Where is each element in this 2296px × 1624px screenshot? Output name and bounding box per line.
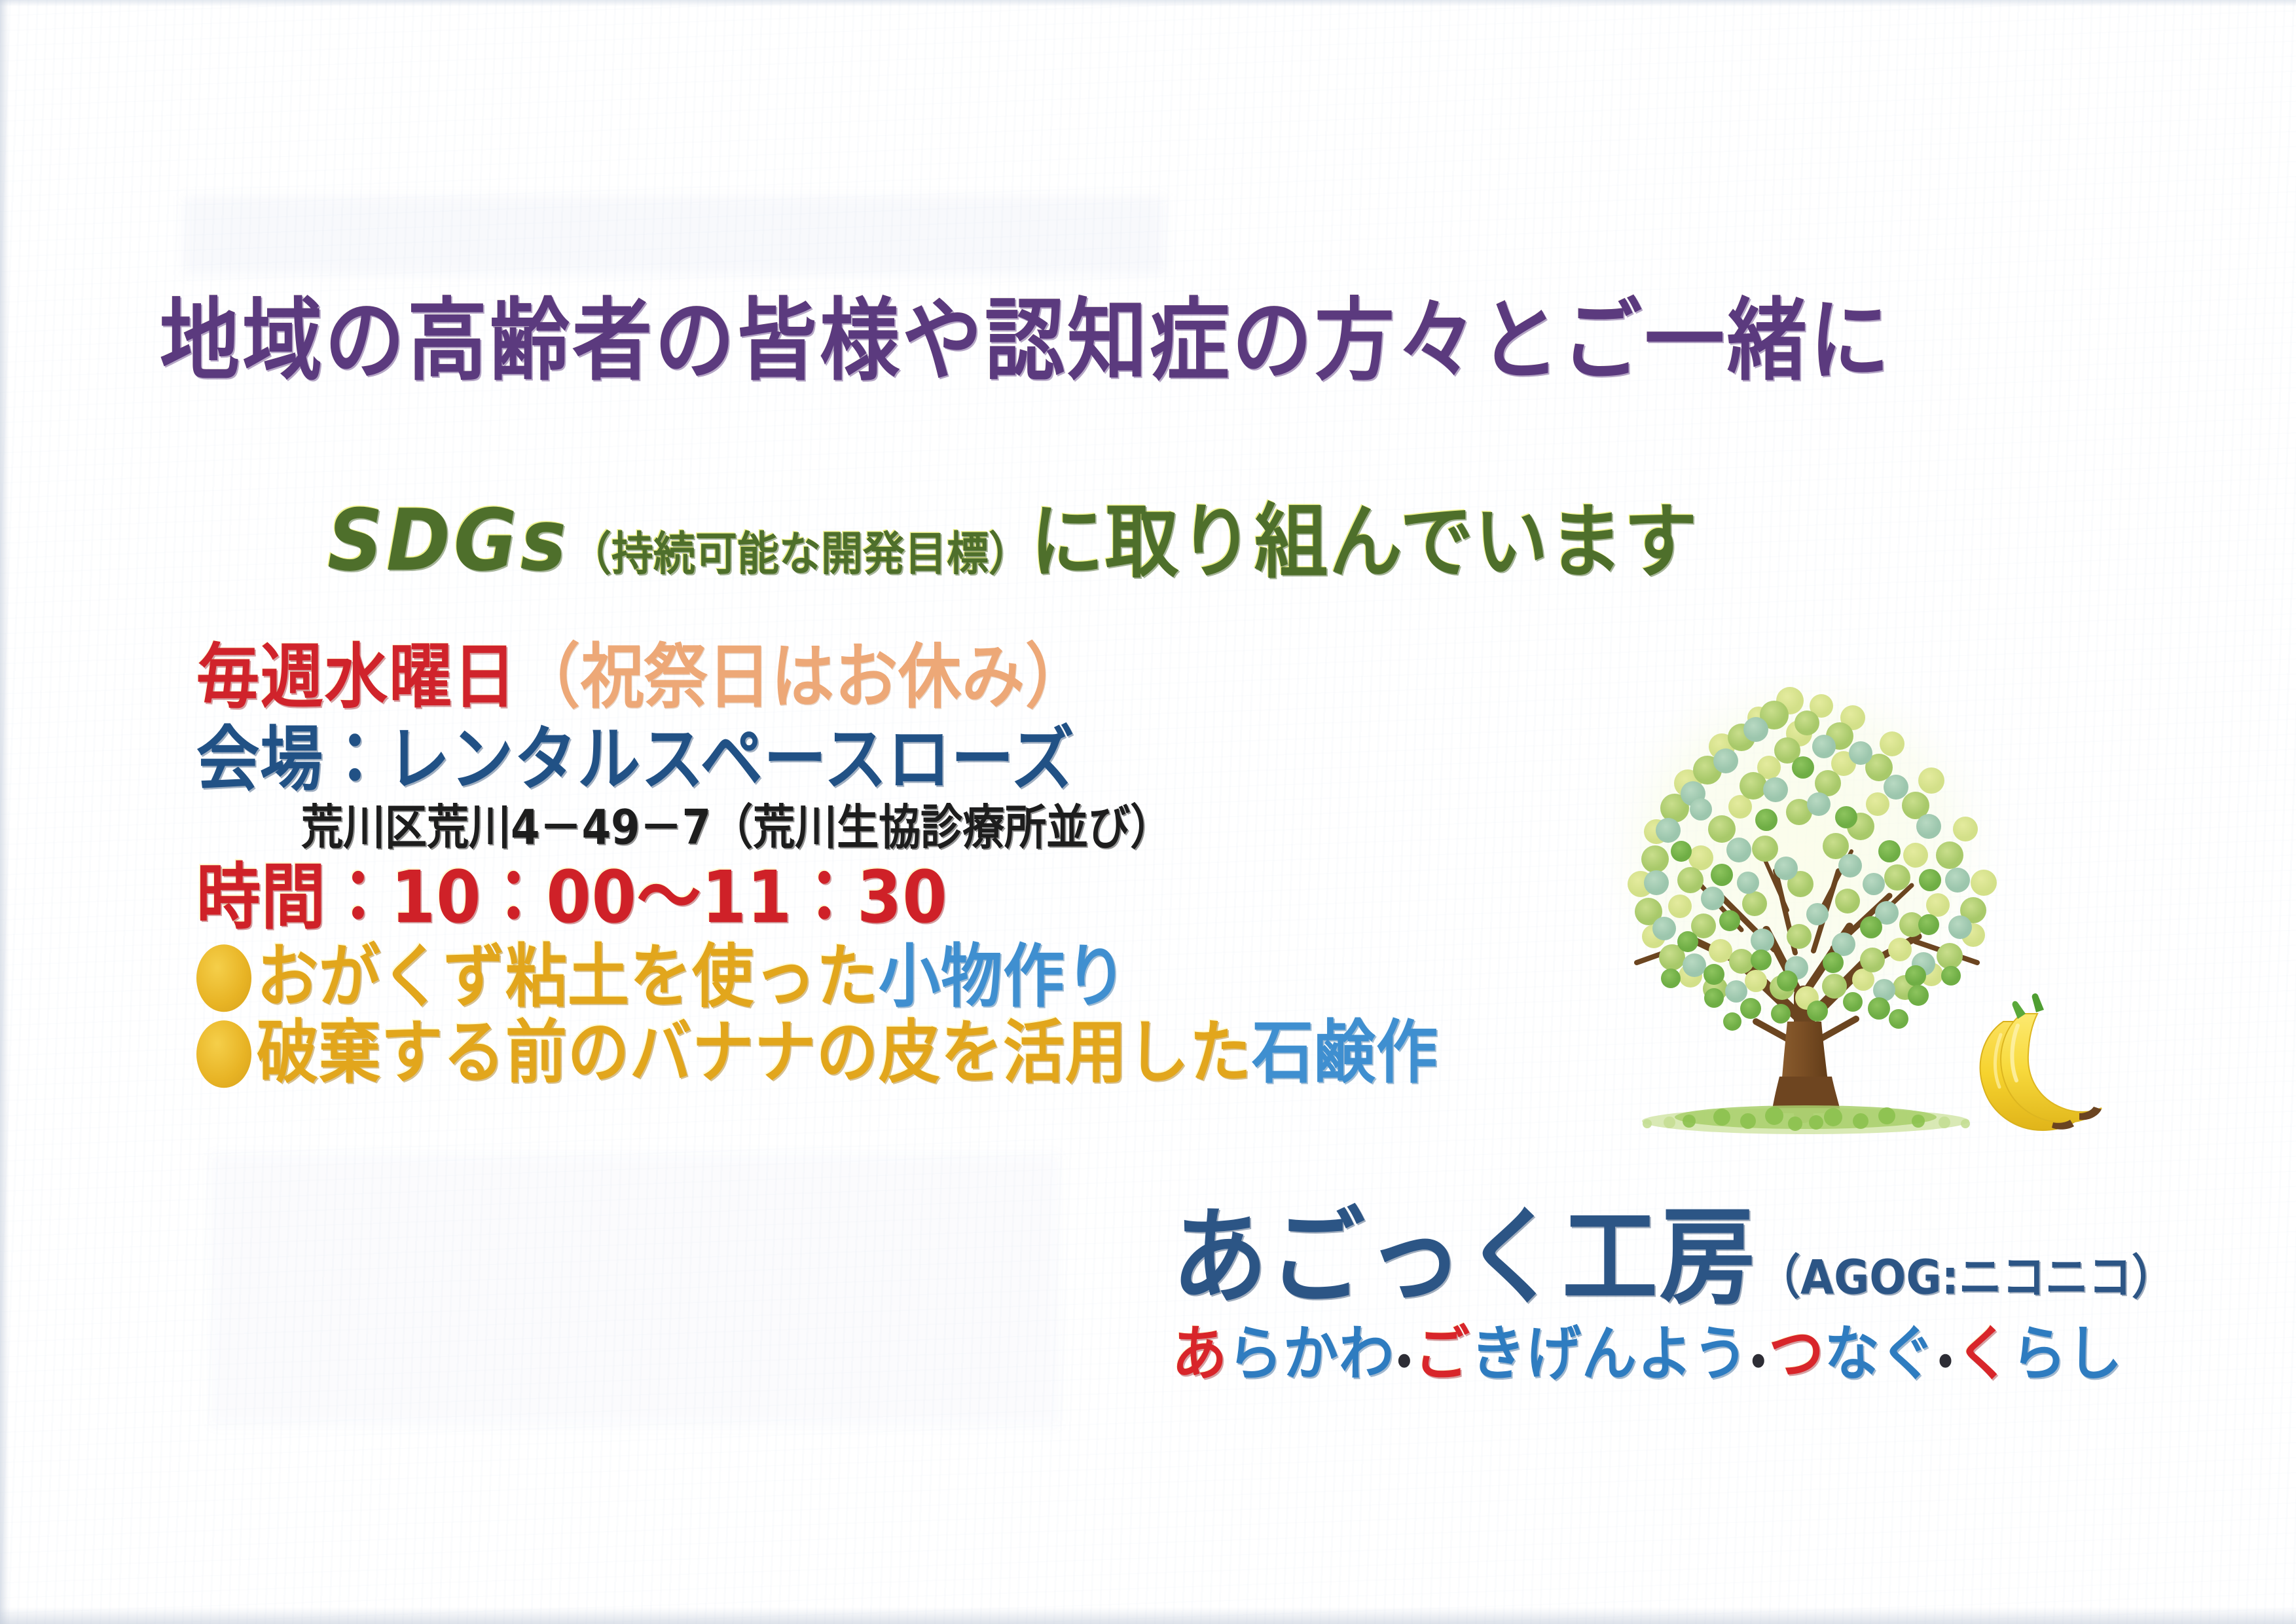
tagline-separator: ・ <box>1749 1333 1769 1386</box>
tagline-word-rest: なぐ <box>1825 1319 1936 1388</box>
tagline-word-rest: きげんよう <box>1470 1319 1749 1388</box>
scan-ghost-band <box>210 1153 1061 1428</box>
tagline-word-rest: らし <box>2011 1319 2123 1388</box>
venue-address: 荒川区荒川4－49－7（荒川生協診療所並び） <box>196 804 1506 852</box>
paper-edge-top <box>0 0 2296 7</box>
paper-edge-bottom <box>0 1607 2296 1624</box>
headline-sdgs: SDGs（持続可能な開発目標）に取り組んでいます <box>327 498 1698 583</box>
headline-primary: 地域の高齢者の皆様や認知症の方々とご一緒に <box>160 296 1892 386</box>
brand-romaji: （AGOG:ニコニコ） <box>1757 1249 2175 1305</box>
sdgs-abbreviation: SDGs <box>327 490 570 590</box>
event-time: 時間：10：00〜11：30 <box>196 862 1506 934</box>
activity-gold-text: 破棄する前のバナナの皮を活用した <box>257 1013 1252 1093</box>
activity-gold-text: おがくず粘土を使った <box>257 937 879 1017</box>
activity-blue-text: 小物作り <box>879 937 1127 1017</box>
tagline-word-rest: らかわ <box>1228 1319 1394 1388</box>
schedule-weekday-line: 毎週水曜日（祝祭日はお休み） <box>196 642 1506 712</box>
tree-illustration <box>1525 655 2115 1179</box>
activity-item: 破棄する前のバナナの皮を活用した石鹸作 <box>196 1019 1506 1088</box>
sdgs-tail: に取り組んでいます <box>1030 496 1698 589</box>
scan-ghost-band <box>183 196 1165 275</box>
tagline-word-initial: つ <box>1769 1319 1825 1388</box>
brand-name-line: あごっく工房（AGOG:ニコニコ） <box>1172 1205 2175 1310</box>
tagline-word-initial: あ <box>1172 1319 1228 1388</box>
activity-blue-text: 石鹸作 <box>1252 1013 1438 1093</box>
tagline-separator: ・ <box>1394 1333 1415 1386</box>
paper-edge-left <box>0 0 9 1624</box>
bullet-dot-icon <box>196 944 251 1012</box>
brand-tagline: あらかわ・ごきげんよう・つなぐ・くらし <box>1172 1324 2175 1384</box>
venue-name: 会場：レンタルスペースローズ <box>196 724 1506 795</box>
schedule-weekday: 毎週水曜日 <box>196 636 517 718</box>
brand-name: あごっく工房 <box>1172 1196 1757 1319</box>
event-info-block: 毎週水曜日（祝祭日はお休み） 会場：レンタルスペースローズ 荒川区荒川4－49－… <box>196 642 1506 1095</box>
tagline-word-initial: く <box>1956 1319 2011 1388</box>
brand-block: あごっく工房（AGOG:ニコニコ） あらかわ・ごきげんよう・つなぐ・くらし <box>1172 1205 2175 1379</box>
tagline-word-initial: ご <box>1415 1319 1470 1388</box>
sdgs-gloss: （持続可能な開発目標） <box>570 528 1030 581</box>
poster-page: 地域の高齢者の皆様や認知症の方々とご一緒に SDGs（持続可能な開発目標）に取り… <box>0 0 2296 1624</box>
banana-illustration <box>1980 993 2102 1130</box>
bullet-dot-icon <box>196 1020 251 1088</box>
tagline-separator: ・ <box>1936 1333 1956 1386</box>
schedule-holiday-note: （祝祭日はお休み） <box>517 636 1089 718</box>
activity-item: おがくず粘土を使った小物作り <box>196 943 1506 1012</box>
